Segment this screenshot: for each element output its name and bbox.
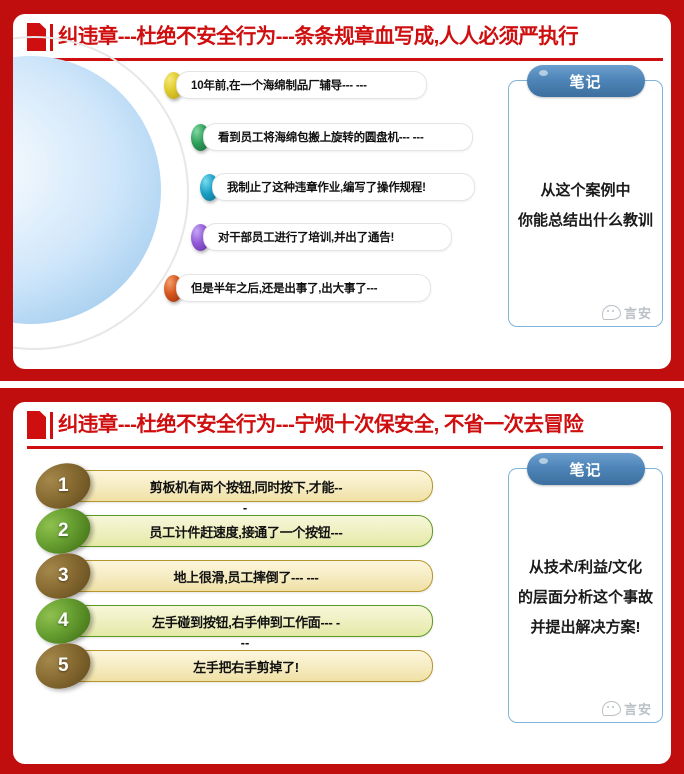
note-tab: 笔记	[527, 453, 645, 485]
watermark: 言安	[602, 303, 652, 322]
list-item-label: 剪板机有两个按钮,同时按下,才能--	[150, 477, 342, 496]
slide-2-body: 剪板机有两个按钮,同时按下,才能-- - 1 员工计件赶速度,接通了一个按钮--…	[13, 450, 671, 764]
list-item-label: 员工计件赶速度,接通了一个按钮---	[149, 522, 342, 541]
list-item-label: 10年前,在一个海绵制品厂辅导--- ---	[177, 77, 367, 93]
list-item[interactable]: 但是半年之后,还是出事了,出大事了---	[176, 274, 431, 302]
slide-2-header: 纠违章---杜绝不安全行为---宁烦十次保安全, 不省一次去冒险	[13, 402, 671, 450]
slide-2-title: 纠违章---杜绝不安全行为---宁烦十次保安全, 不省一次去冒险	[58, 415, 583, 436]
list-item-number: 4	[58, 610, 69, 632]
slide-2-panel: 纠违章---杜绝不安全行为---宁烦十次保安全, 不省一次去冒险 剪板机有两个按…	[13, 402, 671, 764]
note-line: 从技术/利益/文化	[529, 553, 642, 583]
title-underline	[27, 446, 663, 449]
slide-1-header: 纠违章---杜绝不安全行为---条条规章血写成,人人必须严执行	[13, 14, 671, 62]
list-item-number: 1	[58, 475, 69, 497]
list-item-label: 左手把右手剪掉了!	[193, 657, 299, 676]
slide-2: 纠违章---杜绝不安全行为---宁烦十次保安全, 不省一次去冒险 剪板机有两个按…	[0, 388, 684, 774]
slide-1-body: 10年前,在一个海绵制品厂辅导--- --- 看到员工将海绵包搬上旋转的圆盘机-…	[13, 62, 671, 369]
list-item-overflow: -	[59, 500, 431, 515]
slide-1: 纠违章---杜绝不安全行为---条条规章血写成,人人必须严执行 10年前,在一个…	[0, 0, 684, 381]
watermark-label: 言安	[624, 699, 652, 718]
list-item-label: 看到员工将海绵包搬上旋转的圆盘机--- ---	[204, 129, 424, 145]
list-item-label: 我制止了这种违章作业,编写了操作规程!	[213, 179, 426, 195]
note-box: 笔记 从这个案例中 你能总结出什么教训 言安	[508, 80, 663, 327]
note-box: 笔记 从技术/利益/文化 的层面分析这个事故 并提出解决方案! 言安	[508, 468, 663, 723]
list-item[interactable]: 对干部员工进行了培训,并出了通告!	[203, 223, 452, 251]
list-item[interactable]: 员工计件赶速度,接通了一个按钮---	[59, 515, 433, 547]
list-item[interactable]: 左手把右手剪掉了!	[59, 650, 433, 682]
list-item-label: 对干部员工进行了培训,并出了通告!	[204, 229, 394, 245]
note-line: 你能总结出什么教训	[518, 206, 653, 236]
slide-1-title: 纠违章---杜绝不安全行为---条条规章血写成,人人必须严执行	[58, 27, 578, 48]
list-item-number: 5	[58, 655, 69, 677]
note-line: 并提出解决方案!	[531, 613, 641, 643]
list-item-label: 左手碰到按钮,右手伸到工作面--- -	[152, 612, 340, 631]
note-tab-label: 笔记	[569, 459, 601, 480]
note-body: 从这个案例中 你能总结出什么教训	[517, 115, 654, 296]
list-item[interactable]: 地上很滑,员工摔倒了--- ---	[59, 560, 433, 592]
list-item[interactable]: 看到员工将海绵包搬上旋转的圆盘机--- ---	[203, 123, 473, 151]
list-item[interactable]: 剪板机有两个按钮,同时按下,才能--	[59, 470, 433, 502]
watermark: 言安	[602, 699, 652, 718]
note-tab: 笔记	[527, 65, 645, 97]
title-underline	[27, 58, 663, 61]
red-document-icon	[27, 410, 47, 440]
slide-deck-page: 纠违章---杜绝不安全行为---条条规章血写成,人人必须严执行 10年前,在一个…	[0, 0, 684, 774]
list-item[interactable]: 我制止了这种违章作业,编写了操作规程!	[212, 173, 475, 201]
note-body: 从技术/利益/文化 的层面分析这个事故 并提出解决方案!	[517, 503, 654, 692]
wechat-icon	[602, 701, 621, 716]
list-item[interactable]: 10年前,在一个海绵制品厂辅导--- ---	[176, 71, 427, 99]
note-tab-label: 笔记	[569, 71, 601, 92]
watermark-label: 言安	[624, 303, 652, 322]
slide-1-panel: 纠违章---杜绝不安全行为---条条规章血写成,人人必须严执行 10年前,在一个…	[13, 14, 671, 369]
list-item[interactable]: 左手碰到按钮,右手伸到工作面--- -	[59, 605, 433, 637]
list-item-overflow: --	[59, 635, 431, 650]
list-item-label: 但是半年之后,还是出事了,出大事了---	[177, 280, 377, 296]
note-line: 从这个案例中	[540, 176, 630, 206]
title-accent-bar	[50, 412, 53, 439]
note-line: 的层面分析这个事故	[518, 583, 653, 613]
list-item-number: 2	[58, 520, 69, 542]
list-item-label: 地上很滑,员工摔倒了--- ---	[173, 567, 318, 586]
wechat-icon	[602, 305, 621, 320]
outer-arc-decoration	[13, 36, 189, 350]
list-item-number: 3	[58, 565, 69, 587]
